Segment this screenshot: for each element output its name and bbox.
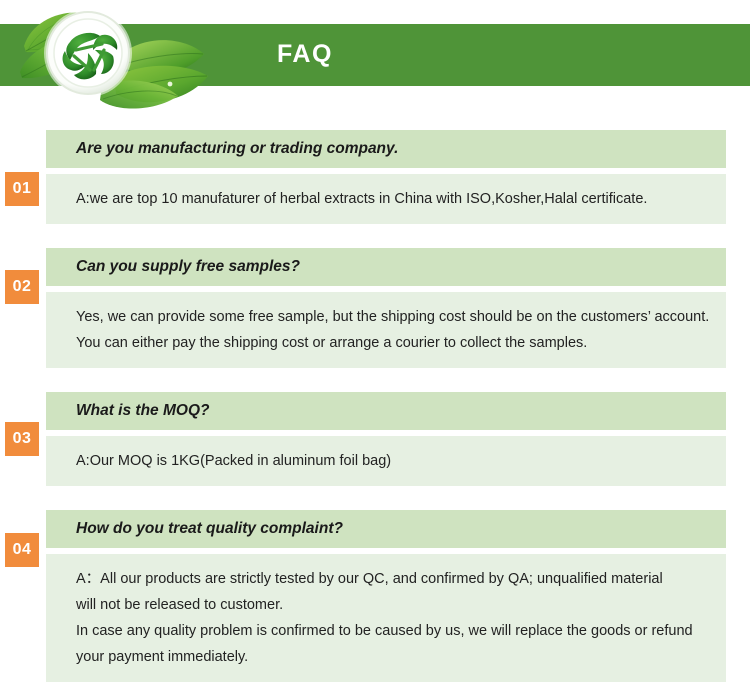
faq-item: 02 Can you supply free samples? Yes, we …: [0, 248, 750, 368]
faq-item: 03 What is the MOQ? A:Our MOQ is 1KG(Pac…: [0, 392, 750, 486]
faq-question: Are you manufacturing or trading company…: [46, 130, 726, 168]
faq-answer: Yes, we can provide some free sample, bu…: [46, 292, 726, 368]
faq-question: Can you supply free samples?: [46, 248, 726, 286]
spacer: [0, 224, 750, 248]
spacer: [0, 368, 750, 392]
leaf-circle-logo: [18, 0, 218, 112]
faq-answer: A:we are top 10 manufaturer of herbal ex…: [46, 174, 726, 224]
faq-number-badge: 03: [5, 422, 39, 456]
page-header: FAQ: [0, 0, 750, 115]
faq-list: 01 Are you manufacturing or trading comp…: [0, 130, 750, 682]
faq-number-badge: 04: [5, 533, 39, 567]
faq-question: How do you treat quality complaint?: [46, 510, 726, 548]
faq-answer: A:Our MOQ is 1KG(Packed in aluminum foil…: [46, 436, 726, 486]
faq-number-badge: 02: [5, 270, 39, 304]
page-title: FAQ: [277, 38, 333, 70]
faq-question: What is the MOQ?: [46, 392, 726, 430]
faq-item: 04 How do you treat quality complaint? A…: [0, 510, 750, 682]
faq-item: 01 Are you manufacturing or trading comp…: [0, 130, 750, 224]
faq-number-badge: 01: [5, 172, 39, 206]
spacer: [0, 486, 750, 510]
faq-answer: A：All our products are strictly tested b…: [46, 554, 726, 682]
